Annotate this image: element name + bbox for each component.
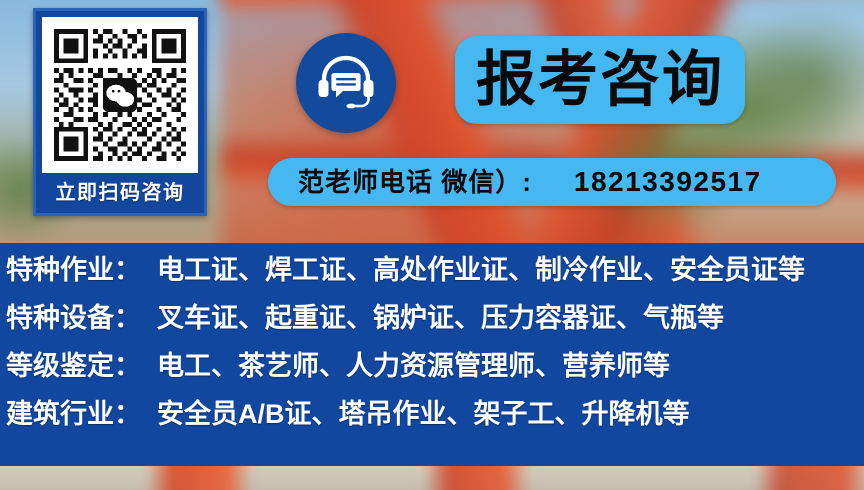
bottom-photo [0, 466, 864, 490]
phone-number[interactable]: 18213392517 [574, 168, 762, 196]
phone-pill[interactable]: 范老师电话 微信）: 18213392517 [268, 158, 836, 206]
qr-code-card[interactable]: 立即扫码咨询 [33, 8, 207, 216]
list-item: 特种设备： 叉车证、起重证、锅炉证、压力容器证、气瓶等 [0, 305, 864, 353]
category-items: 电工、茶艺师、人力资源管理师、营养师等 [157, 353, 670, 380]
list-item: 建筑行业： 安全员A/B证、塔吊作业、架子工、升降机等 [0, 401, 864, 449]
bottom-photo-strip [0, 466, 864, 490]
category-items: 叉车证、起重证、锅炉证、压力容器证、气瓶等 [157, 305, 724, 332]
category-list: 特种作业： 电工证、焊工证、高处作业证、制冷作业、安全员证等 特种设备： 叉车证… [0, 243, 864, 466]
wechat-logo-icon [103, 78, 137, 112]
qr-code-image[interactable] [42, 17, 198, 173]
promo-poster: 立即扫码咨询 报考咨询 范老师电话 微信）: 18213392517 [0, 0, 864, 490]
category-label: 特种设备： [6, 305, 141, 332]
qr-caption: 立即扫码咨询 [56, 183, 185, 203]
list-item: 特种作业： 电工证、焊工证、高处作业证、制冷作业、安全员证等 [0, 257, 864, 305]
title-pill-text: 报考咨询 [476, 50, 724, 110]
phone-pill-label: 范老师电话 微信）: [298, 169, 532, 195]
headset-support-icon [316, 55, 376, 111]
title-pill: 报考咨询 [455, 36, 745, 124]
category-label: 建筑行业： [6, 401, 141, 428]
qr-code-svg [49, 24, 191, 166]
category-label: 等级鉴定： [6, 353, 141, 380]
category-items: 安全员A/B证、塔吊作业、架子工、升降机等 [157, 401, 690, 428]
category-label: 特种作业： [6, 257, 141, 284]
support-badge [296, 33, 396, 133]
list-item: 等级鉴定： 电工、茶艺师、人力资源管理师、营养师等 [0, 353, 864, 401]
category-items: 电工证、焊工证、高处作业证、制冷作业、安全员证等 [157, 257, 805, 284]
